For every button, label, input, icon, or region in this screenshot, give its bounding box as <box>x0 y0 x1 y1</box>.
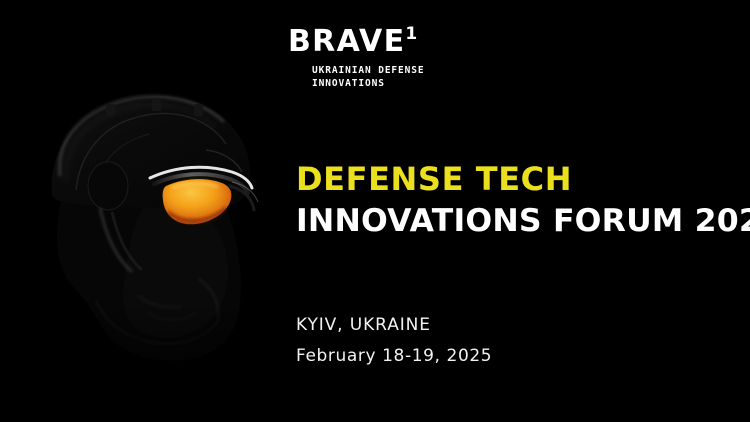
event-location: KYIV, UKRAINE <box>296 310 596 341</box>
tagline-line-1: UKRAINIAN DEFENSE <box>312 64 508 77</box>
headline-line-innovations-forum: INNOVATIONS FORUM 2025 <box>296 200 750 242</box>
brave1-superscript: 1 <box>405 24 417 44</box>
tagline-line-2: INNOVATIONS <box>312 77 508 90</box>
brave1-wordmark: BRAVE1 <box>288 26 508 59</box>
event-details: KYIV, UKRAINE February 18-19, 2025 <box>296 310 596 372</box>
soldier-helmet-artwork <box>0 0 290 422</box>
brave1-wordmark-text: BRAVE <box>288 24 405 59</box>
poster-canvas: BRAVE1 UKRAINIAN DEFENSE INNOVATIONS DEF… <box>0 0 750 422</box>
soldier-silhouette-illustration <box>0 0 290 422</box>
event-dates: February 18-19, 2025 <box>296 341 596 372</box>
headline-line-defense-tech: DEFENSE TECH <box>296 158 750 200</box>
ukraine-flag-icon <box>288 65 303 91</box>
bottom-fade-overlay <box>0 300 290 422</box>
brave1-tagline-block: UKRAINIAN DEFENSE INNOVATIONS <box>288 64 508 93</box>
brave1-logo[interactable]: BRAVE1 UKRAINIAN DEFENSE INNOVATIONS <box>288 26 508 93</box>
event-headline: DEFENSE TECH INNOVATIONS FORUM 2025 <box>296 158 750 242</box>
